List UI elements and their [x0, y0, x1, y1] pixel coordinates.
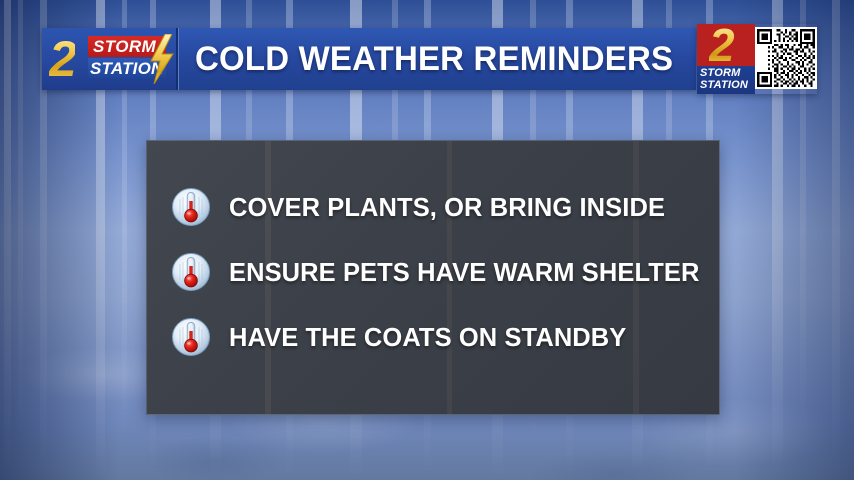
station-logo[interactable]: 2 STORM STATION [42, 28, 178, 90]
corner-branding: 2 STORM STATION [697, 24, 817, 94]
page-title: COLD WEATHER REMINDERS [195, 41, 673, 77]
qr-code-icon[interactable] [755, 27, 817, 89]
reminders-list: COVER PLANTS, OR BRING INSIDE [147, 141, 719, 414]
list-item: COVER PLANTS, OR BRING INSIDE [171, 185, 719, 229]
reminders-panel: COVER PLANTS, OR BRING INSIDE [146, 140, 720, 415]
list-item-label: ENSURE PETS HAVE WARM SHELTER [229, 258, 699, 286]
headline-banner: 2 STORM STATION [42, 28, 696, 90]
thermometer-icon [171, 252, 211, 292]
list-item: HAVE THE COATS ON STANDBY [171, 315, 719, 359]
headline-container: COLD WEATHER REMINDERS [178, 28, 696, 90]
thermometer-icon [171, 187, 211, 227]
corner-logo-storm-text: STORM [700, 67, 741, 79]
list-item-label: COVER PLANTS, OR BRING INSIDE [229, 193, 665, 221]
station-logo-channel-number: 2 [49, 31, 75, 87]
corner-station-logo[interactable]: 2 STORM STATION [697, 24, 755, 94]
lightning-bolt-icon [148, 34, 174, 84]
weather-graphic-screen: 2 STORM STATION [0, 0, 854, 480]
list-item-label: HAVE THE COATS ON STANDBY [229, 323, 626, 351]
corner-logo-channel-number: 2 [709, 24, 735, 68]
thermometer-icon [171, 317, 211, 357]
corner-logo-station-text: STATION [700, 79, 748, 91]
list-item: ENSURE PETS HAVE WARM SHELTER [171, 250, 719, 294]
